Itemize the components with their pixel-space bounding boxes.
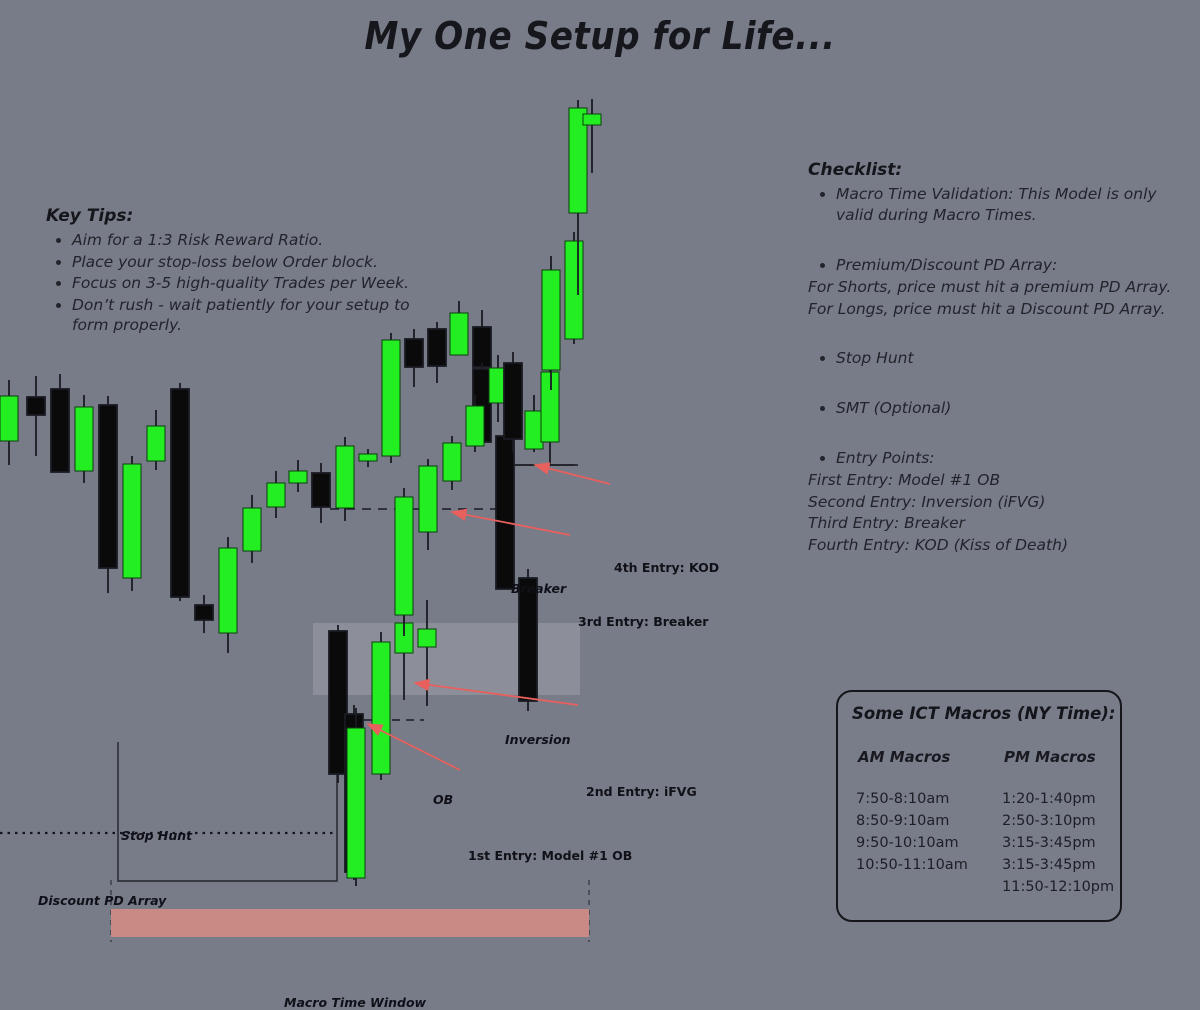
spacer [808, 434, 1198, 448]
candle-5 [123, 456, 141, 591]
candle-1 [27, 376, 45, 456]
candle-12 [289, 460, 307, 492]
candle-6 [147, 410, 165, 470]
ict-macros-box: Some ICT Macros (NY Time): AM Macros PM … [836, 690, 1122, 922]
annotation-breaker-label: Breaker [511, 581, 566, 596]
am-macro-time: 8:50-9:10am [856, 810, 968, 832]
candle-31 [419, 459, 437, 550]
spacer [808, 334, 1198, 348]
entry-line-second: Second Entry: Inversion (iFVG) [808, 492, 1198, 514]
candle-27 [372, 632, 390, 780]
annotation-4th-entry: 4th Entry: KOD [614, 560, 719, 575]
am-macros-header: AM Macros [858, 748, 950, 766]
annotation-ob-label: OB [433, 792, 453, 807]
annotation-discount-pd-array-label: Discount PD Array [38, 893, 166, 908]
candle-36 [525, 395, 543, 452]
candle-18 [428, 322, 446, 383]
candle-8 [195, 595, 213, 633]
checklist-list-smt: SMT (Optional) [808, 398, 1198, 419]
checklist-item-stop-hunt: Stop Hunt [836, 348, 1198, 369]
candle-3 [75, 395, 93, 483]
checklist-heading: Checklist: [808, 160, 1198, 180]
am-macro-time: 7:50-8:10am [856, 788, 968, 810]
pd-array-shorts-line: For Shorts, price must hit a premium PD … [808, 277, 1198, 299]
pm-macros-column: 1:20-1:40pm 2:50-3:10pm 3:15-3:45pm 3:15… [1002, 788, 1114, 898]
pm-macro-time: 3:15-3:45pm [1002, 854, 1114, 876]
inversion-zone [313, 623, 580, 695]
checklist-list-entry-points: Entry Points: [808, 448, 1198, 469]
entry-line-third: Third Entry: Breaker [808, 513, 1198, 535]
am-macros-column: 7:50-8:10am 8:50-9:10am 9:50-10:10am 10:… [856, 788, 968, 876]
page-title: My One Setup for Life... [0, 14, 1200, 58]
annotation-macro-time-window-label: Macro Time Window [284, 995, 426, 1010]
spacer [808, 320, 1198, 334]
candle-14 [336, 437, 354, 521]
key-tip-item: Don’t rush - wait patiently for your set… [72, 295, 416, 336]
am-macro-time: 10:50-11:10am [856, 854, 968, 876]
annotation-inversion-label: Inversion [505, 732, 571, 747]
candle-19 [450, 301, 468, 355]
pd-array-longs-line: For Longs, price must hit a Discount PD … [808, 299, 1198, 321]
checklist-item-pd-array: Premium/Discount PD Array: [836, 255, 1198, 276]
candle-39 [565, 232, 583, 344]
candle-26 [347, 708, 365, 886]
candle-35 [504, 352, 522, 452]
candle-15 [359, 449, 377, 467]
candle-22 [496, 427, 514, 589]
candle-10 [243, 495, 261, 563]
candle-17 [405, 329, 423, 387]
spacer [808, 241, 1198, 255]
entry-line-first: First Entry: Model #1 OB [808, 470, 1198, 492]
key-tip-item: Aim for a 1:3 Risk Reward Ratio. [72, 230, 416, 251]
stop-hunt-box [118, 742, 337, 881]
spacer [808, 227, 1198, 241]
key-tip-item: Focus on 3-5 high-quality Trades per Wee… [72, 273, 416, 294]
checklist-list-pd-array: Premium/Discount PD Array: [808, 255, 1198, 276]
candle-9 [219, 537, 237, 653]
macros-heading: Some ICT Macros (NY Time): [852, 704, 1115, 723]
candle-11 [267, 471, 285, 518]
checklist-item-entry-points: Entry Points: [836, 448, 1198, 469]
candle-7 [171, 383, 189, 601]
pm-macros-header: PM Macros [1004, 748, 1096, 766]
checklist-item-macro-time-validation: Macro Time Validation: This Model is onl… [836, 184, 1198, 226]
pm-macro-time: 11:50-12:10pm [1002, 876, 1114, 898]
annotation-stop-hunt-label: Stop Hunt [121, 828, 192, 843]
checklist-list-macro: Macro Time Validation: This Model is onl… [808, 184, 1198, 226]
spacer [808, 420, 1198, 434]
annotation-2nd-entry: 2nd Entry: iFVG [586, 784, 697, 799]
spacer [808, 384, 1198, 398]
infographic-root: My One Setup for Life... [0, 0, 1200, 961]
candle-37 [541, 363, 559, 465]
annotation-3rd-entry: 3rd Entry: Breaker [578, 614, 708, 629]
checklist-item-smt: SMT (Optional) [836, 398, 1198, 419]
key-tips-panel: Key Tips: Aim for a 1:3 Risk Reward Rati… [46, 206, 416, 337]
candle-38 [542, 256, 560, 390]
key-tip-item: Place your stop-loss below Order block. [72, 252, 416, 273]
candle-30 [395, 488, 413, 636]
candle-13 [312, 463, 330, 523]
candle-0 [0, 380, 18, 465]
arrow-4th-entry [535, 465, 610, 484]
annotation-1st-entry: 1st Entry: Model #1 OB [468, 848, 632, 863]
candle-32 [443, 436, 461, 490]
checklist-panel: Checklist: Macro Time Validation: This M… [808, 160, 1198, 556]
macro-time-window-band [111, 909, 589, 937]
entry-line-fourth: Fourth Entry: KOD (Kiss of Death) [808, 535, 1198, 557]
pm-macro-time: 2:50-3:10pm [1002, 810, 1114, 832]
candle-4 [99, 396, 117, 593]
pm-macro-time: 1:20-1:40pm [1002, 788, 1114, 810]
checklist-list-stop-hunt: Stop Hunt [808, 348, 1198, 369]
candle-16 [382, 333, 400, 463]
key-tips-heading: Key Tips: [46, 206, 416, 226]
am-macro-time: 9:50-10:10am [856, 832, 968, 854]
spacer [808, 370, 1198, 384]
key-tips-list: Aim for a 1:3 Risk Reward Ratio. Place y… [46, 230, 416, 336]
pm-macro-time: 3:15-3:45pm [1002, 832, 1114, 854]
candle-2 [51, 374, 69, 472]
